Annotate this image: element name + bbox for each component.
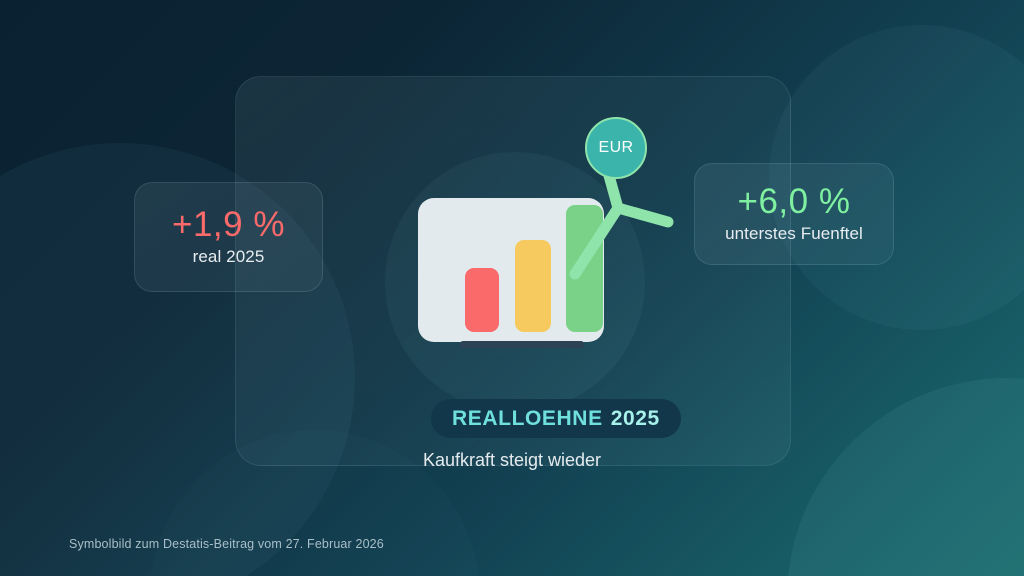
subtitle-text: Kaufkraft steigt wieder <box>0 450 1024 471</box>
source-caption: Symbolbild zum Destatis-Beitrag vom 27. … <box>69 537 384 551</box>
eur-currency-bubble: EUR <box>585 117 647 179</box>
bar-chart-illustration <box>418 198 604 342</box>
title-year-text: 2025 <box>611 407 660 431</box>
eur-bubble-label: EUR <box>599 139 634 157</box>
infographic-canvas: +1,9 % real 2025 +6,0 % unterstes Fuenft… <box>0 0 1024 576</box>
stat-value-unterstes-fuenftel: +6,0 % <box>738 184 851 221</box>
stat-label-real-2025: real 2025 <box>193 247 265 267</box>
chart-bar-mid <box>515 240 551 332</box>
stat-card-real-2025: +1,9 % real 2025 <box>134 182 323 292</box>
background-blob-bottom-right <box>787 378 1024 576</box>
chart-base-stand <box>460 341 584 348</box>
stat-label-unterstes-fuenftel: unterstes Fuenftel <box>725 224 863 244</box>
stat-value-real-2025: +1,9 % <box>172 207 285 244</box>
chart-bar-high <box>566 205 603 332</box>
title-badge: REALLOEHNE 2025 <box>431 399 681 438</box>
chart-bar-low <box>465 268 499 332</box>
stat-card-unterstes-fuenftel: +6,0 % unterstes Fuenftel <box>694 163 894 265</box>
title-main-text: REALLOEHNE <box>452 407 603 431</box>
